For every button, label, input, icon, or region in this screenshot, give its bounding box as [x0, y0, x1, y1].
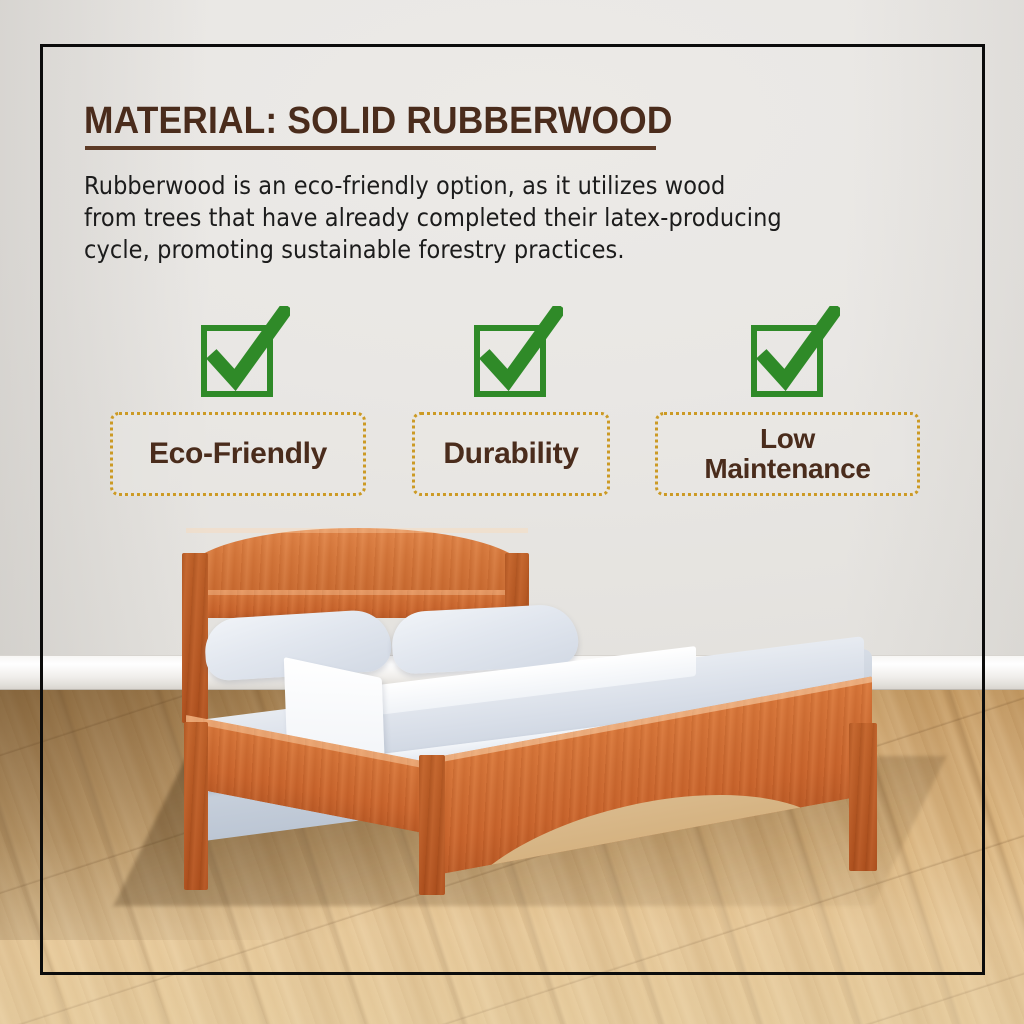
badge-durability[interactable]: Durability — [412, 412, 610, 496]
badge-label-eco-friendly: Eco-Friendly — [149, 439, 327, 469]
bed-leg-front-left — [184, 722, 208, 890]
badge-label-line-1: Low — [760, 423, 815, 454]
description-line-3: cycle, promoting sustainable forestry pr… — [84, 234, 815, 266]
footboard-post-right — [849, 723, 877, 871]
headboard-slat-highlight — [186, 590, 528, 595]
badge-label-low-maintenance: Low Maintenance — [704, 424, 870, 484]
green-check-box-icon — [459, 306, 563, 402]
green-check-box-icon — [186, 306, 290, 402]
feature-eco-friendly: Eco-Friendly — [110, 306, 366, 406]
feature-badge-row: Eco-Friendly Durability — [100, 306, 930, 506]
feature-durability: Durability — [412, 306, 610, 406]
badge-label-line-2: Maintenance — [704, 453, 870, 484]
feature-low-maintenance: Low Maintenance — [655, 306, 920, 406]
footboard-arch-cutout — [447, 765, 845, 878]
headboard-post-left — [182, 553, 208, 723]
badge-label-durability: Durability — [443, 439, 578, 469]
footboard-post-left — [419, 755, 445, 895]
description-text: Rubberwood is an eco-friendly option, as… — [84, 170, 815, 266]
feature-1-icon-wrap — [110, 306, 366, 406]
badge-eco-friendly[interactable]: Eco-Friendly — [110, 412, 366, 496]
page-title: MATERIAL: SOLID RUBBERWOOD — [84, 100, 735, 143]
feature-3-icon-wrap — [655, 306, 920, 406]
green-check-box-icon — [736, 306, 840, 402]
feature-2-icon-wrap — [412, 306, 610, 406]
infographic-canvas: MATERIAL: SOLID RUBBERWOOD Rubberwood is… — [0, 0, 1024, 1024]
description-line-2: from trees that have already completed t… — [84, 202, 815, 234]
headboard-rail-highlight — [186, 528, 528, 533]
headboard-arched-rail — [186, 528, 528, 590]
description-line-1: Rubberwood is an eco-friendly option, as… — [84, 170, 815, 202]
rubberwood-bed — [0, 0, 1024, 1024]
title-underline — [85, 146, 656, 150]
badge-low-maintenance[interactable]: Low Maintenance — [655, 412, 920, 496]
